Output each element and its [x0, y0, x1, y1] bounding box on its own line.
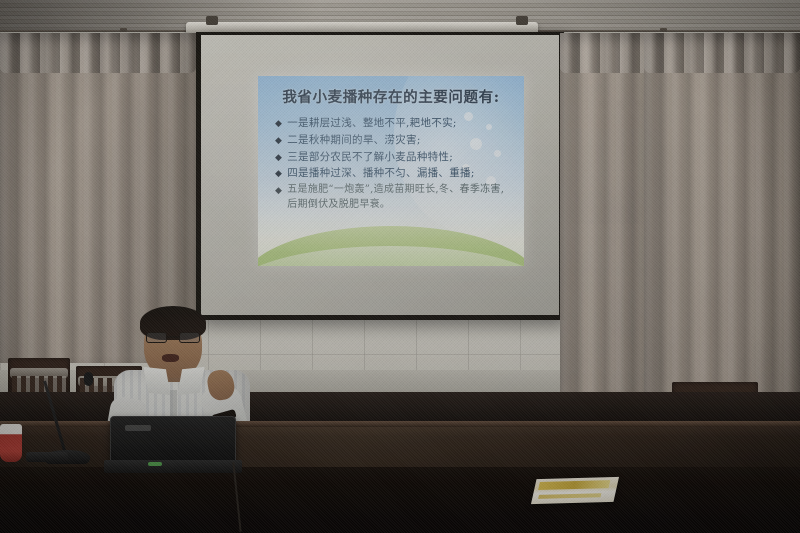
screen-mount-bracket	[206, 16, 218, 25]
screen-mount-bracket	[516, 16, 528, 25]
slide-bullet-list: ◆ 一是耕层过浅、整地不平,耙地不实; ◆ 二是秋种期间的旱、涝灾害; ◆ 三是…	[269, 116, 513, 213]
diamond-bullet-icon: ◆	[275, 152, 282, 165]
laptop-logo	[125, 425, 151, 431]
curtain-right	[644, 33, 800, 405]
slide-bullet-item: ◆ 二是秋种期间的旱、涝灾害;	[275, 133, 513, 148]
presenter-mouth	[162, 354, 179, 362]
glasses-lens-right	[179, 332, 200, 343]
diamond-bullet-icon: ◆	[275, 118, 282, 131]
slide-bullet-item: ◆ 四是播种过深、播种不匀、漏播、重播;	[275, 166, 513, 181]
presentation-remote	[26, 452, 68, 462]
curtain-fold	[644, 33, 800, 73]
booklet-cover-band	[538, 480, 610, 490]
microphone-head	[84, 372, 93, 386]
glasses-lens-left	[146, 332, 167, 343]
slide-bullet-item: ◆ 三是部分农民不了解小麦品种特性;	[275, 150, 513, 165]
booklet-lower-band	[538, 493, 601, 499]
paper-cup	[0, 424, 22, 462]
slide-bullet-text: 三是部分农民不了解小麦品种特性;	[287, 150, 453, 165]
diamond-bullet-icon: ◆	[275, 185, 282, 198]
screen-surface: 我省小麦播种存在的主要问题有: ◆ 一是耕层过浅、整地不平,耙地不实; ◆ 二是…	[201, 35, 559, 315]
curtain-middle-right	[560, 33, 652, 399]
conference-room-photo: 江 南 春 色 图	[0, 0, 800, 533]
presentation-slide: 我省小麦播种存在的主要问题有: ◆ 一是耕层过浅、整地不平,耙地不实; ◆ 二是…	[258, 76, 524, 266]
projector-screen: 我省小麦播种存在的主要问题有: ◆ 一是耕层过浅、整地不平,耙地不实; ◆ 二是…	[196, 32, 564, 320]
slide-bullet-item: ◆ 五是施肥“一炮轰”,造成苗期旺长,冬、春季冻害,后期倒伏及脱肥早衰。	[275, 183, 513, 212]
curtain-fold	[560, 33, 652, 73]
glasses-icon	[146, 332, 200, 343]
glasses-bridge	[167, 336, 179, 338]
laptop-keyboard-base[interactable]	[104, 460, 242, 473]
slide-bullet-item: ◆ 一是耕层过浅、整地不平,耙地不实;	[275, 116, 513, 131]
diamond-bullet-icon: ◆	[275, 135, 282, 148]
laptop-screen-lid	[110, 416, 236, 462]
diamond-bullet-icon: ◆	[275, 168, 282, 181]
laptop-status-led	[148, 462, 162, 466]
laptop[interactable]	[104, 416, 240, 476]
slide-bullet-text: 二是秋种期间的旱、涝灾害;	[287, 133, 420, 148]
slide-bullet-text: 一是耕层过浅、整地不平,耙地不实;	[287, 116, 456, 131]
booklet	[531, 477, 619, 504]
curtain-fold	[0, 33, 196, 73]
slide-bullet-text: 五是施肥“一炮轰”,造成苗期旺长,冬、春季冻害,后期倒伏及脱肥早衰。	[287, 183, 513, 212]
slide-bullet-text: 四是播种过深、播种不匀、漏播、重播;	[287, 166, 474, 181]
slide-title: 我省小麦播种存在的主要问题有:	[269, 86, 513, 107]
